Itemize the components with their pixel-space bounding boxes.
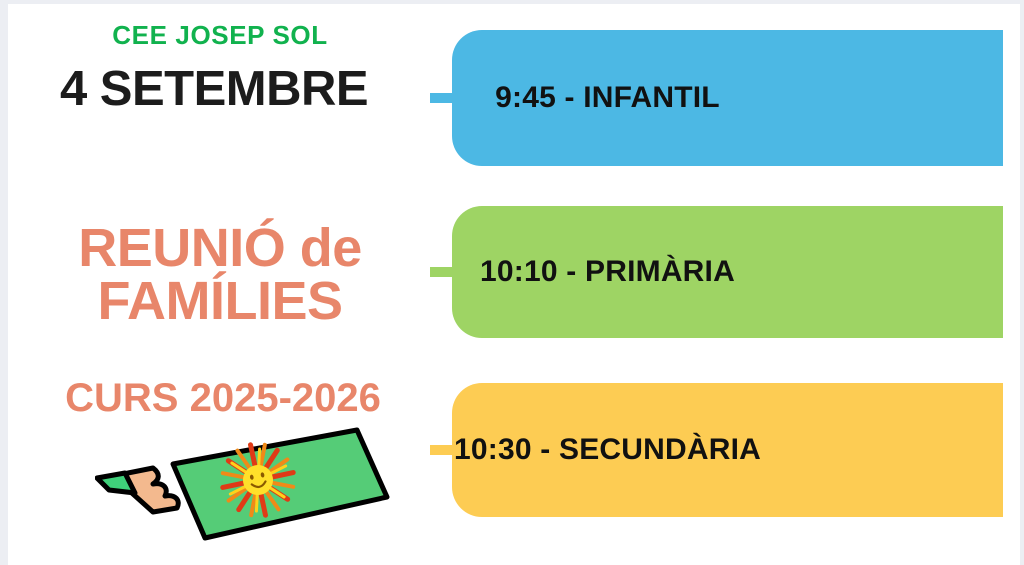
session-connector-tab (430, 445, 456, 455)
event-title-line-1: REUNIÓ de (78, 218, 362, 278)
page-edge-right (1020, 0, 1024, 565)
page-edge-left (0, 0, 8, 565)
session-label-primaria: 10:10 - PRIMÀRIA (480, 255, 735, 289)
session-bar-primaria[interactable]: 10:10 - PRIMÀRIA (452, 206, 1003, 338)
pencil-icon (95, 420, 415, 545)
session-connector-tab (430, 267, 456, 277)
school-name: CEE JOSEP SOL (8, 22, 432, 49)
course-year: CURS 2025-2026 (8, 378, 438, 418)
session-label-secundaria: 10:30 - SECUNDÀRIA (454, 433, 761, 467)
event-title-line-2: FAMÍLIES (8, 275, 432, 328)
session-connector-tab (430, 93, 456, 103)
session-bar-secundaria[interactable]: 10:30 - SECUNDÀRIA (452, 383, 1003, 517)
session-label-infantil: 9:45 - INFANTIL (495, 81, 720, 115)
session-bar-infantil[interactable]: 9:45 - INFANTIL (452, 30, 1003, 166)
event-title: REUNIÓ de FAMÍLIES (8, 222, 432, 328)
poster-canvas: CEE JOSEP SOL 4 SETEMBRE REUNIÓ de FAMÍL… (0, 0, 1024, 565)
event-date: 4 SETEMBRE (8, 64, 420, 115)
pencil-illustration (95, 420, 415, 545)
